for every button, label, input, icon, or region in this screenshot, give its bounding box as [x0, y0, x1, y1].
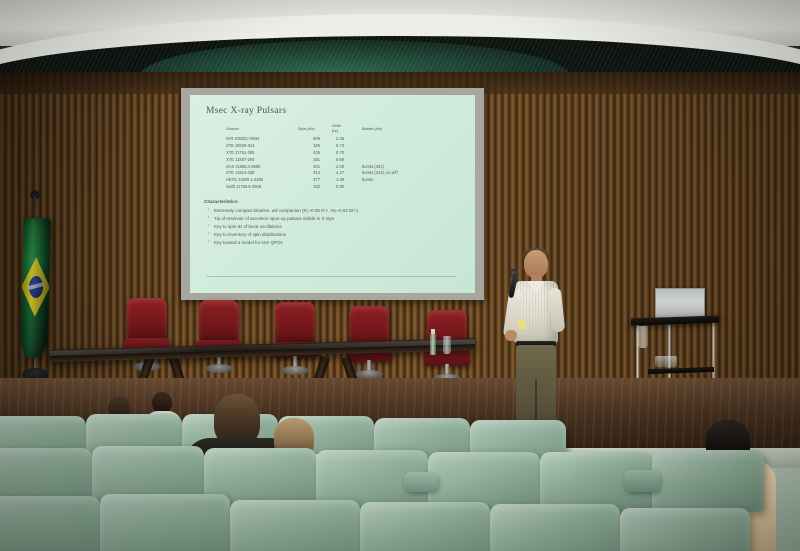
table-row: XTE J1751-3054350.70	[226, 149, 442, 156]
flag-shading	[20, 218, 51, 359]
presenter-laptop-screen	[655, 288, 705, 319]
slide-bullet: Key to inventory of spin distributions	[208, 231, 465, 239]
cell-source: SAX J1808.4-3658	[226, 163, 298, 170]
projection-screen-frame: Msec X-ray Pulsars Source Spin (Hz) Orbi…	[181, 88, 484, 300]
drinking-glass	[443, 336, 451, 354]
seat-row3-3	[230, 500, 360, 551]
chair-base	[281, 366, 309, 375]
cell-bursts: bursts (314), no wf?	[362, 169, 442, 176]
presenter-hand	[505, 330, 517, 341]
cell-orbit: 4.27	[332, 169, 362, 176]
chair-base	[205, 364, 233, 373]
cell-orbit: 1.39	[332, 176, 362, 183]
table-row: HETE J1900.1-24553771.39bursts	[226, 176, 442, 183]
podium-water-glass	[638, 326, 648, 348]
water-bottle	[430, 333, 436, 355]
panel-chair-3	[272, 302, 318, 374]
slide-bullet: Key toward a model for kHz QPOs	[208, 239, 465, 247]
th-spin: Spin (Hz)	[298, 123, 332, 136]
cell-bursts	[362, 142, 442, 149]
cell-orbit: 0.59	[332, 156, 362, 163]
th-source: Source	[226, 123, 298, 136]
seat-row3-5	[490, 504, 620, 551]
slide-divider	[206, 276, 456, 277]
seat-row3-1	[0, 496, 100, 551]
seat-row3-2	[100, 494, 230, 551]
cell-spin: 599	[298, 136, 332, 143]
cell-orbit: 2.00	[332, 163, 362, 170]
table-row: XTE J0929-3141850.73	[226, 142, 442, 149]
cell-spin: 185	[298, 142, 332, 149]
cell-orbit: 0.70	[332, 149, 362, 156]
slide-bullet: Key to spin-ID of burst oscillations	[208, 223, 465, 231]
slide-table: Source Spin (Hz) Orbit (hr) Bursts (Hz) …	[226, 123, 465, 190]
cell-source: XTE J1807-294	[226, 156, 298, 163]
cell-source: XTE J1814-338	[226, 169, 298, 176]
cell-source: IGR J00291+5934	[226, 136, 298, 143]
table-row: Swift J1756.9-25081820.90	[226, 183, 442, 190]
seat-armrest-right	[624, 470, 660, 492]
presenter-head	[524, 250, 548, 278]
cell-spin: 314	[298, 169, 332, 176]
cell-bursts: bursts (401)	[362, 163, 442, 170]
cell-bursts	[362, 183, 442, 190]
table-row: XTE J1807-2941910.59	[226, 156, 442, 163]
cell-orbit: 0.90	[332, 183, 362, 190]
cell-bursts	[362, 149, 442, 156]
chair-back	[275, 302, 315, 344]
cell-source: HETE J1900.1-2455	[226, 176, 298, 183]
characteristics-label: Characteristics:	[204, 199, 465, 204]
seat-row2-7	[652, 450, 764, 512]
presenter-badge	[518, 320, 526, 329]
cell-bursts	[362, 136, 442, 143]
brazilian-flag	[20, 218, 51, 359]
th-orbit: Orbit (hr)	[332, 123, 362, 136]
seat-row3-4	[360, 502, 490, 551]
slide-bullet-list: Extremely compact binaries, wd companion…	[208, 207, 465, 247]
table-row: IGR J00291+59345992.46	[226, 136, 442, 143]
table-header-row: Source Spin (Hz) Orbit (hr) Bursts (Hz)	[226, 123, 442, 136]
slide-title: Msec X-ray Pulsars	[206, 106, 465, 116]
chair-back	[199, 300, 239, 342]
cell-bursts	[362, 156, 442, 163]
cell-source: XTE J0929-314	[226, 142, 298, 149]
cell-orbit: 0.73	[332, 142, 362, 149]
seat-row3-6	[620, 508, 750, 551]
cell-spin: 191	[298, 156, 332, 163]
auditorium-photo: Msec X-ray Pulsars Source Spin (Hz) Orbi…	[0, 0, 800, 551]
projection-screen: Msec X-ray Pulsars Source Spin (Hz) Orbi…	[190, 95, 475, 293]
cell-source: Swift J1756.9-2508	[226, 183, 298, 190]
seat-armrest-mid	[404, 472, 438, 492]
cell-spin: 182	[298, 183, 332, 190]
cell-spin: 435	[298, 149, 332, 156]
th-bursts: Bursts (Hz)	[362, 123, 442, 136]
chair-back	[127, 298, 167, 340]
cell-spin: 377	[298, 176, 332, 183]
table-row: XTE J1814-3383144.27bursts (314), no wf?	[226, 169, 442, 176]
cell-bursts: bursts	[362, 176, 442, 183]
slide-bullet: Tip of reservoir of accretion spun-up pu…	[208, 215, 465, 223]
cell-spin: 401	[298, 163, 332, 170]
slide-bullet: Extremely compact binaries, wd companion…	[208, 207, 465, 215]
podium-item	[655, 356, 677, 367]
panel-chair-2	[196, 300, 242, 372]
table-row: SAX J1808.4-36584012.00bursts (401)	[226, 163, 442, 170]
cell-orbit: 2.46	[332, 136, 362, 143]
cell-source: XTE J1751-305	[226, 149, 298, 156]
